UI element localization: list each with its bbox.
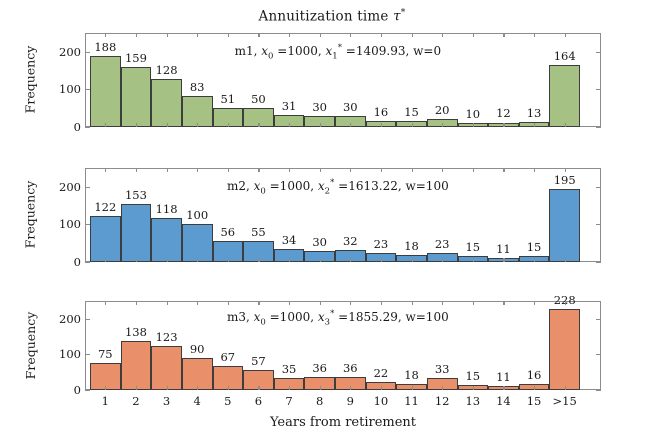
- bar-value-label: 56: [220, 225, 235, 239]
- x-tick-mark: [197, 258, 198, 262]
- x-tick-mark-top: [442, 168, 443, 172]
- bar-value-label: 15: [465, 369, 480, 383]
- annot-x0-value: =1000,: [277, 44, 321, 58]
- x-tick-label-1: 1: [102, 394, 109, 408]
- bar-value-label: 20: [435, 103, 450, 117]
- bar-value-label: 15: [465, 240, 480, 254]
- x-tick-mark: [197, 123, 198, 127]
- x-tick-mark-top: [105, 33, 106, 37]
- x-tick-mark-top: [534, 168, 535, 172]
- x-tick-label->15: >15: [553, 394, 577, 408]
- x-tick-mark: [228, 386, 229, 390]
- x-tick-mark: [289, 258, 290, 262]
- annot-model: m1,: [235, 44, 258, 58]
- x-tick-mark: [105, 258, 106, 262]
- x-tick-mark-top: [534, 301, 535, 305]
- bar: [151, 79, 182, 127]
- bar-value-label: 11: [496, 242, 511, 256]
- x-tick-mark-top: [320, 301, 321, 305]
- y-axis-label: Frequency: [23, 33, 38, 127]
- annot-x0-value: =1000,: [270, 310, 314, 324]
- x-tick-mark-top: [412, 301, 413, 305]
- plot-area: 0100200188159128835150313030161520101213…: [85, 33, 601, 127]
- x-tick-mark-top: [534, 33, 535, 37]
- bar-value-label: 13: [527, 106, 542, 120]
- x-tick-mark: [534, 386, 535, 390]
- bar-value-label: 30: [312, 100, 327, 114]
- x-tick-mark: [473, 123, 474, 127]
- x-tick-mark: [442, 123, 443, 127]
- bar-value-label: 138: [125, 325, 147, 339]
- y-tick-mark: [85, 262, 90, 263]
- x-tick-mark: [136, 386, 137, 390]
- bar-value-label: 16: [374, 105, 389, 119]
- x-tick-mark-top: [136, 168, 137, 172]
- figure-title-symbol: τ: [393, 9, 401, 25]
- annot-w-value: w=100: [405, 310, 448, 324]
- annot-model: m2,: [227, 179, 250, 193]
- y-tick-mark-right: [596, 354, 601, 355]
- y-tick-mark: [85, 390, 90, 391]
- y-tick-label-100: 100: [59, 347, 81, 361]
- figure-title: Annuitization time τ*: [0, 8, 664, 25]
- x-tick-mark: [258, 123, 259, 127]
- y-tick-mark-right: [596, 262, 601, 263]
- x-tick-mark: [136, 258, 137, 262]
- y-tick-mark: [85, 319, 90, 320]
- x-tick-mark: [412, 386, 413, 390]
- x-tick-mark: [228, 123, 229, 127]
- x-tick-mark-top: [197, 33, 198, 37]
- x-tick-label-13: 13: [465, 394, 480, 408]
- histogram-panel-m2: 0100200122153118100565534303223182315111…: [85, 168, 601, 262]
- y-axis-label: Frequency: [23, 168, 38, 262]
- y-tick-label-200: 200: [59, 312, 81, 326]
- x-tick-label-9: 9: [347, 394, 354, 408]
- x-tick-mark-top: [258, 168, 259, 172]
- x-tick-mark-top: [167, 301, 168, 305]
- bar: [549, 65, 580, 127]
- x-tick-mark: [473, 386, 474, 390]
- x-tick-label-4: 4: [194, 394, 201, 408]
- figure-title-text: Annuitization time: [259, 9, 389, 25]
- x-tick-mark-top: [167, 168, 168, 172]
- x-tick-label-10: 10: [374, 394, 389, 408]
- x-tick-mark-top: [565, 301, 566, 305]
- y-tick-label-100: 100: [59, 217, 81, 231]
- annot-w-value: w=0: [413, 44, 441, 58]
- x-tick-mark: [350, 258, 351, 262]
- histogram-panel-m1: 0100200188159128835150313030161520101213…: [85, 33, 601, 127]
- x-tick-mark: [381, 386, 382, 390]
- bar-value-label: 23: [374, 237, 389, 251]
- annot-xstar-symbol: x: [326, 44, 333, 58]
- x-tick-mark-top: [105, 301, 106, 305]
- x-tick-mark: [167, 258, 168, 262]
- panel-annotation-m1: m1, x0 =1000, x1* =1409.93, w=0: [235, 43, 442, 61]
- x-tick-mark: [565, 386, 566, 390]
- x-tick-mark-top: [503, 33, 504, 37]
- x-tick-mark-top: [289, 301, 290, 305]
- figure-container: Annuitization time τ* 010020018815912883…: [0, 0, 664, 438]
- bar: [549, 189, 580, 262]
- x-tick-mark-top: [197, 301, 198, 305]
- x-tick-label-7: 7: [285, 394, 292, 408]
- x-tick-mark: [503, 258, 504, 262]
- x-tick-mark: [320, 258, 321, 262]
- y-tick-mark: [85, 354, 90, 355]
- bar-value-label: 188: [94, 40, 116, 54]
- x-tick-mark: [534, 123, 535, 127]
- bar-value-label: 16: [527, 368, 542, 382]
- x-tick-mark: [442, 386, 443, 390]
- bar: [121, 341, 152, 390]
- bar-value-label: 12: [496, 106, 511, 120]
- x-tick-mark: [412, 123, 413, 127]
- x-tick-mark-top: [412, 33, 413, 37]
- x-tick-mark-top: [136, 33, 137, 37]
- x-tick-mark: [503, 123, 504, 127]
- bar-value-label: 32: [343, 234, 358, 248]
- x-tick-label-11: 11: [404, 394, 419, 408]
- plot-area: 0100200122153118100565534303223182315111…: [85, 168, 601, 262]
- x-tick-mark-top: [503, 301, 504, 305]
- x-tick-mark: [197, 386, 198, 390]
- x-tick-label-3: 3: [163, 394, 170, 408]
- x-tick-mark: [565, 258, 566, 262]
- y-tick-label-100: 100: [59, 82, 81, 96]
- annot-xstar-superscript: *: [330, 309, 334, 319]
- bar-value-label: 118: [156, 202, 178, 216]
- bar-value-label: 30: [343, 100, 358, 114]
- x-tick-mark: [167, 123, 168, 127]
- bar-value-label: 55: [251, 225, 266, 239]
- x-tick-mark: [258, 386, 259, 390]
- x-tick-label-12: 12: [435, 394, 450, 408]
- x-tick-mark-top: [381, 33, 382, 37]
- panel-annotation-m3: m3, x0 =1000, x3* =1855.29, w=100: [227, 309, 449, 327]
- bar-value-label: 123: [156, 330, 178, 344]
- x-tick-mark: [442, 258, 443, 262]
- annot-x0-subscript: 0: [260, 317, 265, 327]
- x-tick-label-2: 2: [132, 394, 139, 408]
- y-tick-mark-right: [596, 187, 601, 188]
- x-tick-mark-top: [503, 168, 504, 172]
- x-tick-mark: [350, 386, 351, 390]
- x-tick-mark: [565, 123, 566, 127]
- x-tick-mark: [228, 258, 229, 262]
- annot-xstar-symbol: x: [318, 179, 325, 193]
- x-tick-mark-top: [197, 168, 198, 172]
- annot-w-value: w=100: [405, 179, 448, 193]
- y-tick-label-200: 200: [59, 180, 81, 194]
- x-tick-mark: [258, 258, 259, 262]
- x-tick-mark-top: [350, 168, 351, 172]
- x-tick-label-5: 5: [224, 394, 231, 408]
- bar-value-label: 31: [282, 99, 297, 113]
- bar: [151, 346, 182, 390]
- x-tick-mark: [320, 386, 321, 390]
- x-tick-mark: [136, 123, 137, 127]
- bar-value-label: 100: [186, 208, 208, 222]
- bar-value-label: 15: [404, 105, 419, 119]
- x-axis-label: Years from retirement: [85, 415, 601, 430]
- bar-value-label: 30: [312, 235, 327, 249]
- bar-value-label: 18: [404, 368, 419, 382]
- x-tick-mark-top: [228, 33, 229, 37]
- bar-value-label: 159: [125, 51, 147, 65]
- bar-value-label: 164: [554, 49, 576, 63]
- y-axis-label: Frequency: [23, 301, 38, 390]
- bar-value-label: 22: [374, 366, 389, 380]
- x-tick-mark: [412, 258, 413, 262]
- y-tick-mark: [85, 187, 90, 188]
- x-tick-mark-top: [473, 33, 474, 37]
- y-tick-mark-right: [596, 89, 601, 90]
- bar-value-label: 15: [527, 240, 542, 254]
- bar-value-label: 11: [496, 370, 511, 384]
- y-tick-label-0: 0: [74, 120, 81, 134]
- x-tick-label-14: 14: [496, 394, 511, 408]
- annot-xstar-value: =1613.22,: [338, 179, 402, 193]
- x-tick-mark: [105, 386, 106, 390]
- x-tick-mark-top: [167, 33, 168, 37]
- annot-x0-subscript: 0: [260, 186, 265, 196]
- x-tick-label-15: 15: [527, 394, 542, 408]
- bar-value-label: 36: [312, 361, 327, 375]
- x-tick-mark-top: [412, 168, 413, 172]
- bar: [90, 216, 121, 262]
- x-tick-label-6: 6: [255, 394, 262, 408]
- bar: [121, 67, 152, 127]
- x-tick-mark-top: [381, 301, 382, 305]
- annot-xstar-value: =1855.29,: [338, 310, 402, 324]
- y-tick-mark-right: [596, 319, 601, 320]
- x-tick-mark-top: [381, 168, 382, 172]
- bar: [549, 309, 580, 390]
- bar-value-label: 51: [220, 92, 235, 106]
- bar-value-label: 10: [465, 107, 480, 121]
- bar: [151, 218, 182, 262]
- figure-title-symbol-sup: *: [401, 8, 406, 18]
- annot-xstar-value: =1409.93,: [346, 44, 410, 58]
- x-tick-mark-top: [228, 168, 229, 172]
- x-tick-mark: [320, 123, 321, 127]
- bar-value-label: 90: [190, 342, 205, 356]
- x-tick-mark-top: [350, 33, 351, 37]
- x-tick-mark-top: [320, 33, 321, 37]
- bar-value-label: 122: [94, 200, 116, 214]
- annot-model: m3,: [227, 310, 250, 324]
- bar-value-label: 57: [251, 354, 266, 368]
- histogram-panel-m3: 0100200751381239067573536362218331511162…: [85, 301, 601, 390]
- x-tick-mark: [473, 258, 474, 262]
- bar-value-label: 36: [343, 361, 358, 375]
- bar-value-label: 83: [190, 80, 205, 94]
- annot-x0-subscript: 0: [268, 51, 273, 61]
- x-tick-label-8: 8: [316, 394, 323, 408]
- x-tick-mark-top: [320, 168, 321, 172]
- bar: [90, 56, 121, 127]
- bar-value-label: 35: [282, 362, 297, 376]
- bar-value-label: 34: [282, 233, 297, 247]
- x-tick-mark-top: [289, 33, 290, 37]
- x-tick-mark: [381, 123, 382, 127]
- bar: [121, 204, 152, 262]
- y-tick-label-0: 0: [74, 255, 81, 269]
- y-tick-label-200: 200: [59, 45, 81, 59]
- annot-xstar-symbol: x: [318, 310, 325, 324]
- x-tick-mark: [167, 386, 168, 390]
- x-tick-mark: [350, 123, 351, 127]
- bar-value-label: 195: [554, 173, 576, 187]
- bar-value-label: 50: [251, 92, 266, 106]
- y-tick-mark-right: [596, 224, 601, 225]
- bar-value-label: 67: [220, 350, 235, 364]
- y-tick-mark-right: [596, 127, 601, 128]
- y-tick-mark: [85, 52, 90, 53]
- x-tick-mark-top: [228, 301, 229, 305]
- y-tick-mark-right: [596, 390, 601, 391]
- x-tick-mark: [289, 123, 290, 127]
- x-tick-mark: [381, 258, 382, 262]
- x-tick-mark-top: [442, 33, 443, 37]
- x-tick-mark-top: [442, 301, 443, 305]
- x-tick-mark: [289, 386, 290, 390]
- x-tick-mark-top: [565, 33, 566, 37]
- bar-value-label: 75: [98, 347, 113, 361]
- x-tick-mark-top: [258, 33, 259, 37]
- x-tick-mark-top: [473, 168, 474, 172]
- bar-value-label: 33: [435, 362, 450, 376]
- bar-value-label: 153: [125, 188, 147, 202]
- y-tick-label-0: 0: [74, 383, 81, 397]
- x-tick-mark-top: [136, 301, 137, 305]
- x-tick-mark-top: [289, 168, 290, 172]
- y-tick-mark: [85, 127, 90, 128]
- x-tick-mark-top: [105, 168, 106, 172]
- x-tick-mark: [503, 386, 504, 390]
- x-tick-mark-top: [258, 301, 259, 305]
- annot-xstar-superscript: *: [338, 43, 342, 53]
- annot-xstar-superscript: *: [330, 178, 334, 188]
- annot-x0-value: =1000,: [270, 179, 314, 193]
- x-tick-mark-top: [565, 168, 566, 172]
- y-tick-mark-right: [596, 52, 601, 53]
- bar-value-label: 18: [404, 239, 419, 253]
- x-tick-mark-top: [473, 301, 474, 305]
- x-tick-mark: [534, 258, 535, 262]
- bar: [182, 224, 213, 262]
- plot-area: 0100200751381239067573536362218331511162…: [85, 301, 601, 390]
- bar-value-label: 128: [156, 63, 178, 77]
- x-tick-mark: [105, 123, 106, 127]
- panel-annotation-m2: m2, x0 =1000, x2* =1613.22, w=100: [227, 178, 449, 196]
- x-tick-mark-top: [350, 301, 351, 305]
- bar-value-label: 23: [435, 237, 450, 251]
